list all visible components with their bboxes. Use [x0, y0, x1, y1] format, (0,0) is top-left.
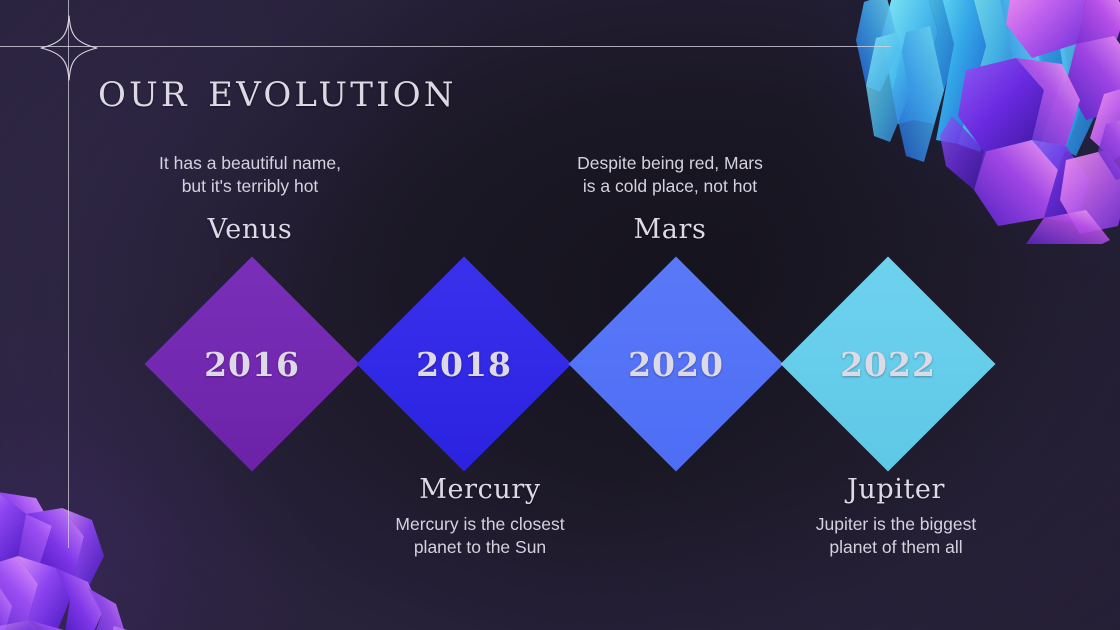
mercury-description-line-2: planet to the Sun [325, 536, 635, 559]
mars-description: Despite being red, Mars is a cold place,… [520, 152, 820, 198]
venus-description-line-2: but it's terribly hot [105, 175, 395, 198]
jupiter-planet-name: Jupiter [740, 474, 1052, 505]
timeline-diamond-2022[interactable]: 2022 [781, 257, 996, 472]
timeline-year-2022: 2022 [812, 288, 964, 440]
mercury-planet-name: Mercury [325, 474, 635, 505]
mercury-description-line-1: Mercury is the closest [325, 513, 635, 536]
slide-canvas: OUR EVOLUTION 2016 2018 2020 2022 It has… [0, 0, 1120, 630]
timeline-diamond-row: 2016 2018 2020 2022 [0, 257, 1120, 472]
venus-planet-name: Venus [105, 214, 395, 245]
venus-description-line-1: It has a beautiful name, [105, 152, 395, 175]
mars-description-line-2: is a cold place, not hot [520, 175, 820, 198]
timeline-year-2018: 2018 [388, 288, 540, 440]
jupiter-description-line-2: planet of them all [740, 536, 1052, 559]
jupiter-description-line-1: Jupiter is the biggest [740, 513, 1052, 536]
timeline-label-mars: Despite being red, Mars is a cold place,… [520, 152, 820, 245]
timeline-year-2020: 2020 [600, 288, 752, 440]
timeline-label-jupiter: Jupiter Jupiter is the biggest planet of… [740, 474, 1052, 559]
four-point-star-icon [40, 15, 98, 81]
timeline-label-mercury: Mercury Mercury is the closest planet to… [325, 474, 635, 559]
decorative-line-horizontal [0, 46, 891, 47]
timeline-diamond-2020[interactable]: 2020 [569, 257, 784, 472]
timeline-year-2016: 2016 [176, 288, 328, 440]
jupiter-description: Jupiter is the biggest planet of them al… [740, 513, 1052, 559]
mars-planet-name: Mars [520, 214, 820, 245]
timeline-diamond-2016[interactable]: 2016 [145, 257, 360, 472]
timeline-diamond-2018[interactable]: 2018 [357, 257, 572, 472]
timeline-label-venus: It has a beautiful name, but it's terrib… [105, 152, 395, 245]
mars-description-line-1: Despite being red, Mars [520, 152, 820, 175]
mercury-description: Mercury is the closest planet to the Sun [325, 513, 635, 559]
venus-description: It has a beautiful name, but it's terrib… [105, 152, 395, 198]
page-title: OUR EVOLUTION [98, 62, 457, 118]
